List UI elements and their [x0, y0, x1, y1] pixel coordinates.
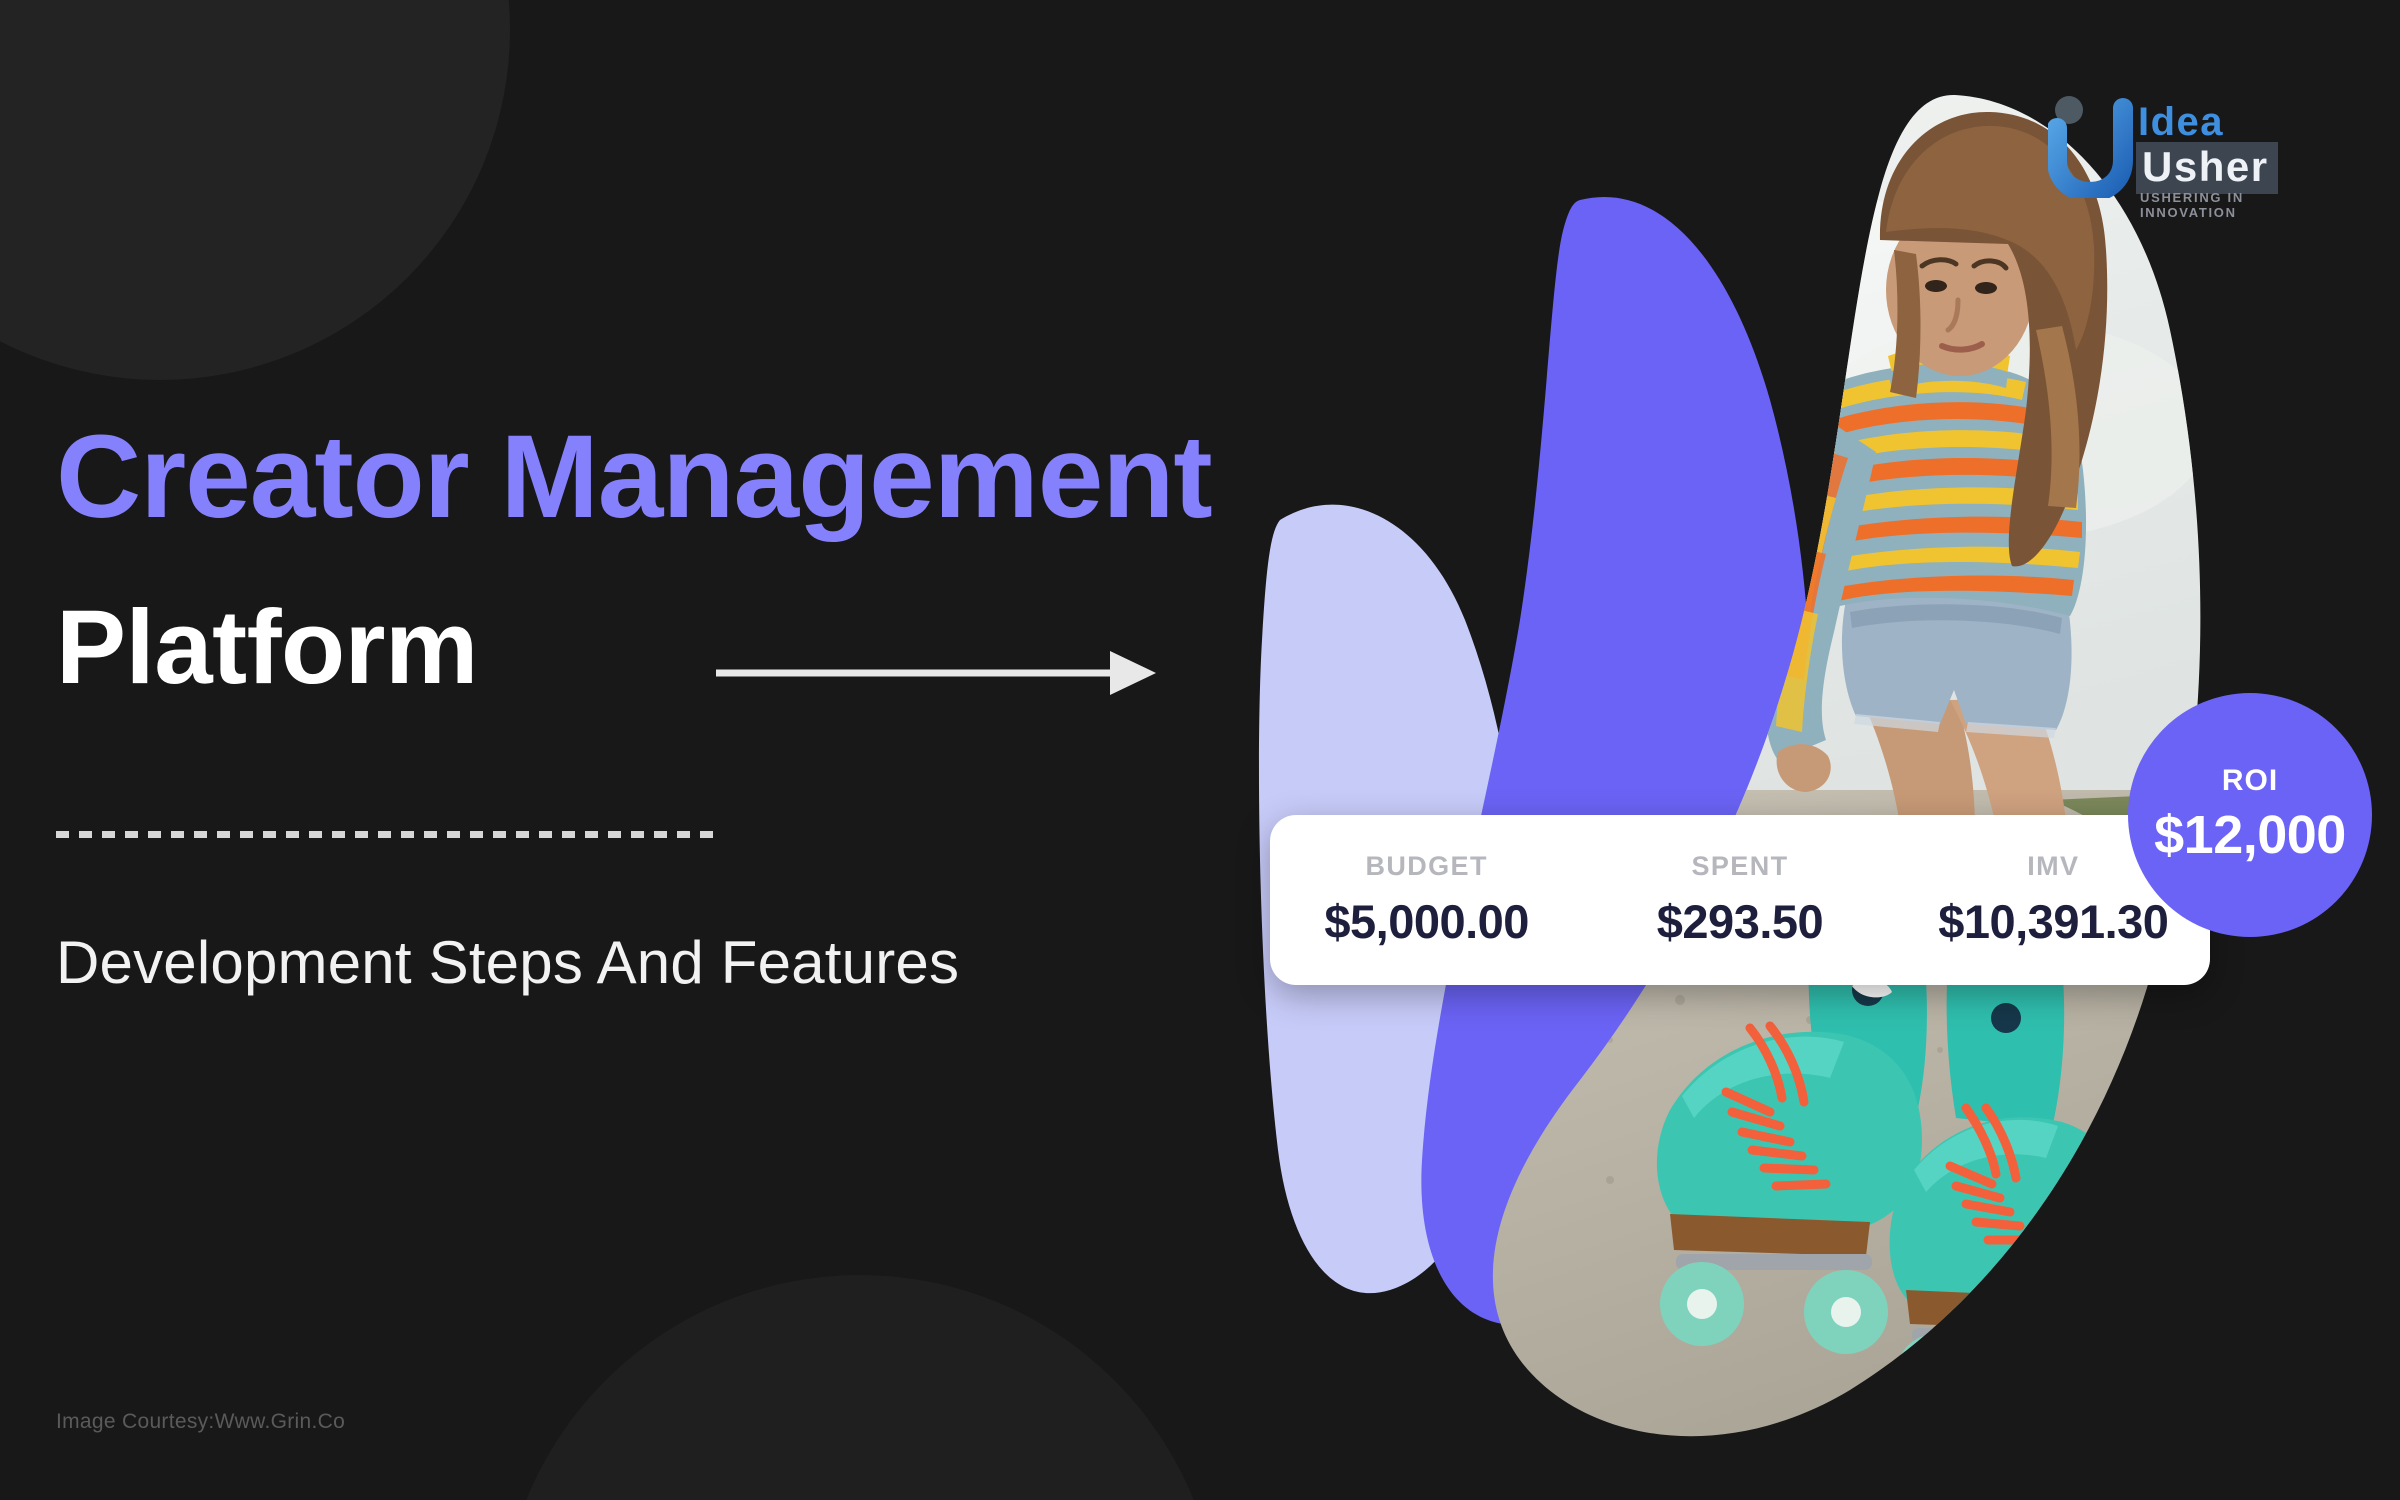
headline-line-1: Creator Management: [56, 418, 1212, 536]
stat-spent-value: $293.50: [1583, 894, 1896, 949]
image-courtesy-text: Image Courtesy:Www.Grin.Co: [56, 1410, 345, 1434]
logo-text-idea: Idea: [2138, 100, 2224, 145]
stat-imv-value: $10,391.30: [1897, 894, 2210, 949]
stat-budget-value: $5,000.00: [1270, 894, 1583, 949]
logo-u-mark: [2048, 94, 2134, 198]
stat-budget-label: BUDGET: [1270, 851, 1583, 882]
roi-badge: ROI $12,000: [2128, 693, 2372, 937]
idea-usher-logo: Idea Usher USHERING IN INNOVATION: [2048, 94, 2298, 204]
stat-spent-label: SPENT: [1583, 851, 1896, 882]
slide-canvas: Creator Management Platform Development …: [0, 0, 2400, 1500]
stat-spent: SPENT $293.50: [1583, 851, 1896, 949]
stat-budget: BUDGET $5,000.00: [1270, 851, 1583, 949]
logo-text-usher: Usher: [2142, 143, 2269, 190]
roi-label: ROI: [2222, 764, 2278, 798]
roi-value: $12,000: [2154, 804, 2346, 866]
dotted-divider: [56, 831, 716, 838]
logo-usher-highlight: Usher: [2136, 142, 2278, 194]
arrow-icon: [716, 638, 1156, 708]
text-column: Creator Management Platform Development …: [56, 0, 1316, 1500]
subtitle: Development Steps And Features: [56, 930, 959, 996]
headline-line-2: Platform: [56, 595, 478, 700]
stats-card: BUDGET $5,000.00 SPENT $293.50 IMV $10,3…: [1270, 815, 2210, 985]
logo-tagline: USHERING IN INNOVATION: [2140, 190, 2298, 220]
